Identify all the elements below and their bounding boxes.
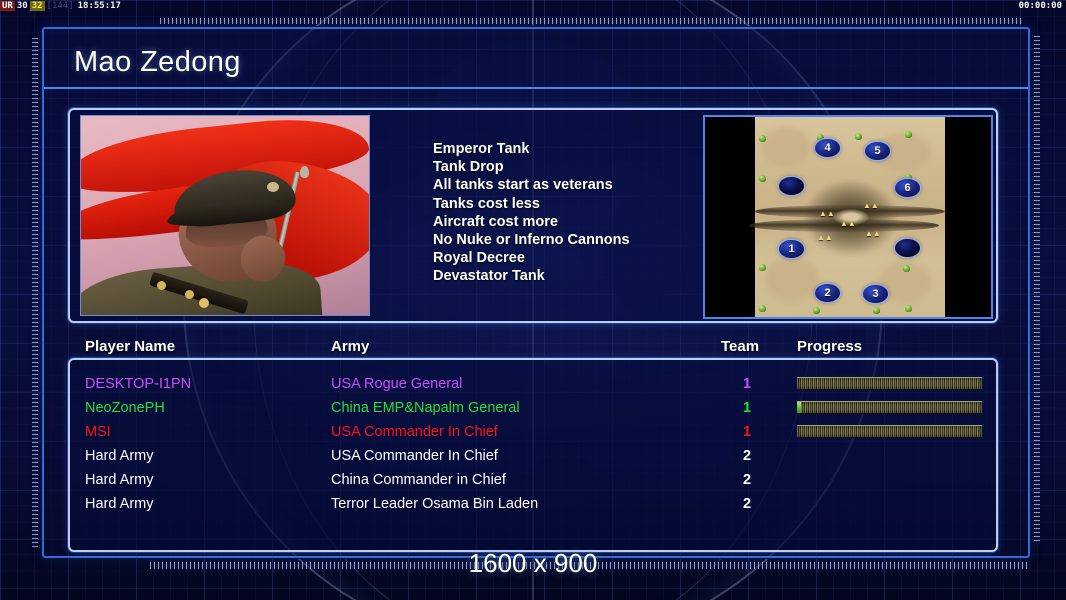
progress-bar xyxy=(797,377,982,390)
table-row: Hard ArmyUSA Commander In Chief2 xyxy=(68,444,998,468)
map-terrain-image: ▲▲▲▲▲▲▲▲▲▲456123 xyxy=(755,117,945,317)
player-team-cell: 2 xyxy=(743,468,751,492)
general-portrait-image xyxy=(80,115,370,316)
player-name-cell: Hard Army xyxy=(85,444,154,468)
player-name-cell: NeoZonePH xyxy=(85,396,165,420)
table-row: Hard ArmyTerror Leader Osama Bin Laden2 xyxy=(68,492,998,516)
supply-pile-icon: ▲▲ xyxy=(865,229,881,238)
game-timer: 00:00:00 xyxy=(1019,0,1062,13)
map-preview: ▲▲▲▲▲▲▲▲▲▲456123 xyxy=(703,115,993,319)
table-row: MSIUSA Commander In Chief1 xyxy=(68,420,998,444)
supply-dock-icon xyxy=(905,131,912,138)
player-army-cell: China Commander in Chief xyxy=(331,468,506,492)
supply-pile-icon: ▲▲ xyxy=(817,233,833,242)
ruler-decoration-left xyxy=(32,38,38,548)
supply-dock-icon xyxy=(855,133,862,140)
player-army-cell: USA Commander In Chief xyxy=(331,444,498,468)
fps-value: 30 xyxy=(15,1,30,11)
ability-item: All tanks start as veterans xyxy=(433,176,630,194)
system-clock: 18:55:17 xyxy=(76,1,123,11)
fps-status-bar: UR3032[144]18:55:17 xyxy=(0,0,1066,13)
progress-bar-marker xyxy=(797,402,801,413)
player-team-cell: 1 xyxy=(743,396,751,420)
column-header-progress: Progress xyxy=(797,338,862,355)
map-start-position: 2 xyxy=(815,284,840,302)
page-title: Mao Zedong xyxy=(74,46,241,79)
supply-pile-icon: ▲▲ xyxy=(840,219,856,228)
supply-dock-icon xyxy=(873,307,880,314)
table-row: DESKTOP-I1PNUSA Rogue General1 xyxy=(68,372,998,396)
supply-dock-icon xyxy=(905,305,912,312)
supply-dock-icon xyxy=(759,175,766,182)
player-progress-cell xyxy=(797,377,982,390)
player-name-cell: DESKTOP-I1PN xyxy=(85,372,191,396)
player-army-cell: Terror Leader Osama Bin Laden xyxy=(331,492,538,516)
ability-item: Tanks cost less xyxy=(433,195,630,213)
fps-cap-value: [144] xyxy=(45,1,76,11)
supply-pile-icon: ▲▲ xyxy=(863,201,879,210)
player-progress-cell xyxy=(797,401,982,414)
player-team-cell: 2 xyxy=(743,444,751,468)
ruler-decoration-top xyxy=(160,18,1022,24)
map-start-position: 5 xyxy=(865,142,890,160)
player-name-cell: MSI xyxy=(85,420,111,444)
column-header-team: Team xyxy=(721,338,759,355)
ability-item: Emperor Tank xyxy=(433,140,630,158)
supply-dock-icon xyxy=(759,305,766,312)
fps-label: UR xyxy=(0,1,15,11)
progress-bar xyxy=(797,425,982,438)
table-row: NeoZonePHChina EMP&Napalm General1 xyxy=(68,396,998,420)
progress-bar xyxy=(797,401,982,414)
supply-dock-icon xyxy=(903,265,910,272)
column-header-army: Army xyxy=(331,338,369,355)
player-progress-cell xyxy=(797,425,982,438)
map-start-position: 6 xyxy=(895,179,920,197)
player-team-cell: 2 xyxy=(743,492,751,516)
ability-item: Devastator Tank xyxy=(433,267,630,285)
ability-item: Tank Drop xyxy=(433,158,630,176)
general-abilities-list: Emperor TankTank DropAll tanks start as … xyxy=(433,140,630,286)
ability-item: Royal Decree xyxy=(433,249,630,267)
supply-dock-icon xyxy=(759,264,766,271)
player-team-cell: 1 xyxy=(743,420,751,444)
player-army-cell: USA Rogue General xyxy=(331,372,462,396)
column-header-player-name: Player Name xyxy=(85,338,175,355)
map-start-position: 1 xyxy=(779,240,804,258)
player-name-cell: Hard Army xyxy=(85,468,154,492)
player-team-cell: 1 xyxy=(743,372,751,396)
map-start-position: 3 xyxy=(863,285,888,303)
table-row: Hard ArmyChina Commander in Chief2 xyxy=(68,468,998,492)
player-table-header: Player Name Army Team Progress xyxy=(68,338,998,360)
ruler-decoration-right xyxy=(1034,36,1040,544)
supply-pile-icon: ▲▲ xyxy=(819,209,835,218)
player-army-cell: China EMP&Napalm General xyxy=(331,396,520,420)
fps-alt-value: 32 xyxy=(30,1,45,11)
ability-item: No Nuke or Inferno Cannons xyxy=(433,231,630,249)
map-start-position xyxy=(895,239,920,257)
ability-item: Aircraft cost more xyxy=(433,213,630,231)
player-name-cell: Hard Army xyxy=(85,492,154,516)
supply-dock-icon xyxy=(759,135,766,142)
map-start-position: 4 xyxy=(815,139,840,157)
supply-dock-icon xyxy=(813,307,820,314)
resolution-label: 1600 x 900 xyxy=(0,548,1066,579)
player-army-cell: USA Commander In Chief xyxy=(331,420,498,444)
map-start-position xyxy=(779,177,804,195)
